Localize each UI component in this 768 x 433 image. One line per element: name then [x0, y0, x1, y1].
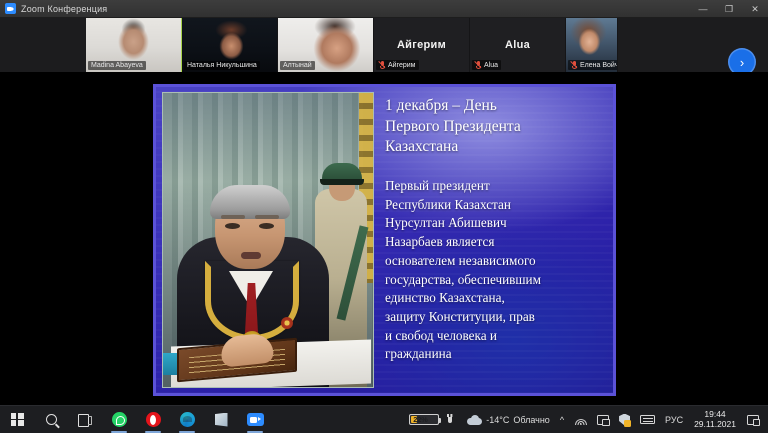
battery-icon: 22%	[409, 414, 439, 425]
whatsapp-icon	[112, 412, 127, 427]
participant-thumbnail-strip[interactable]: Madina Abayeva Наталья Никульшина Алтына…	[0, 18, 768, 72]
chevron-right-icon: ›	[740, 56, 744, 69]
notification-center-icon	[747, 415, 759, 425]
mic-muted-icon	[475, 61, 481, 69]
search-icon	[46, 414, 57, 425]
weather-temperature: -14°C	[486, 415, 509, 425]
wifi-button[interactable]	[569, 406, 592, 433]
chevron-up-icon: ^	[560, 415, 564, 425]
participant-thumbnail[interactable]: Alua Alua	[470, 18, 566, 72]
gallery-next-page-button[interactable]: ›	[728, 48, 756, 72]
participant-name: Madina Abayeva	[91, 62, 143, 69]
system-tray: 22% -14°C Облачно ^	[404, 406, 768, 433]
maximize-button[interactable]: ❐	[716, 0, 742, 18]
participant-thumbnail[interactable]: Алтынай	[278, 18, 374, 72]
display-icon	[597, 415, 609, 425]
participant-thumbnail[interactable]: Елена Войчук	[566, 18, 618, 72]
edge-button[interactable]	[170, 406, 204, 433]
strip-left-padding	[0, 18, 86, 72]
wifi-icon	[574, 415, 587, 425]
search-button[interactable]	[34, 406, 68, 433]
participant-name: Alua	[484, 62, 498, 69]
president-brow-right	[255, 215, 279, 219]
participant-thumbnail[interactable]: Madina Abayeva	[86, 18, 182, 72]
opera-icon	[146, 412, 161, 427]
president-eye-left	[225, 223, 240, 229]
start-button[interactable]	[0, 406, 34, 433]
cloud-icon	[467, 415, 482, 425]
task-view-button[interactable]	[68, 406, 102, 433]
president-eye-right	[259, 223, 274, 229]
keyboard-icon	[640, 415, 655, 424]
battery-status[interactable]: 22%	[404, 406, 462, 433]
president-mouth	[241, 252, 261, 259]
mic-muted-icon	[571, 61, 577, 69]
participant-thumbnail[interactable]: Наталья Никульшина	[182, 18, 278, 72]
whatsapp-button[interactable]	[102, 406, 136, 433]
mic-muted-icon	[379, 61, 385, 69]
language-indicator[interactable]: РУС	[660, 406, 688, 433]
participant-thumbnail[interactable]: Айгерим Айгерим	[374, 18, 470, 72]
security-center-button[interactable]	[614, 406, 635, 433]
president-lapel-badge	[281, 317, 293, 329]
window-title: Zoom Конференция	[21, 4, 107, 14]
slide-photo	[162, 92, 374, 388]
windows-logo-icon	[11, 413, 24, 426]
participant-name: Айгерим	[388, 62, 416, 69]
edge-icon	[180, 412, 195, 427]
zoom-button[interactable]	[238, 406, 272, 433]
minimize-button[interactable]: —	[690, 0, 716, 18]
display-settings-button[interactable]	[592, 406, 614, 433]
participant-name-badge: Алтынай	[280, 61, 315, 70]
security-shield-icon	[619, 414, 630, 426]
honor-guard-cap	[322, 163, 362, 181]
microsoft-store-icon	[215, 413, 228, 427]
slide-body-text: Первый президент Республики Казахстан Ну…	[385, 177, 607, 364]
touch-keyboard-button[interactable]	[635, 406, 660, 433]
participant-name-badge: Madina Abayeva	[88, 61, 146, 70]
battery-percent: 22%	[411, 415, 429, 424]
zoom-icon	[247, 413, 264, 426]
window-controls: — ❐ ✕	[690, 0, 768, 18]
participant-name: Елена Войчук	[580, 62, 618, 69]
task-view-icon	[78, 414, 92, 425]
power-plug-icon	[446, 414, 453, 425]
participant-name: Наталья Никульшина	[187, 62, 257, 69]
store-button[interactable]	[204, 406, 238, 433]
slide-title: 1 декабря – День Первого Президента Каза…	[385, 96, 607, 158]
notification-center-button[interactable]	[742, 406, 768, 433]
clock[interactable]: 19:44 29.11.2021	[688, 406, 742, 433]
president-brow-left	[221, 215, 245, 219]
participant-name-badge: Наталья Никульшина	[184, 61, 260, 70]
clock-date: 29.11.2021	[694, 420, 736, 430]
participant-name: Алтынай	[283, 62, 312, 69]
window-titlebar: Zoom Конференция — ❐ ✕	[0, 0, 768, 18]
windows-taskbar: 22% -14°C Облачно ^	[0, 405, 768, 433]
participant-name-badge: Елена Войчук	[568, 60, 618, 70]
participant-name-badge: Alua	[472, 60, 501, 70]
opera-button[interactable]	[136, 406, 170, 433]
weather-condition: Облачно	[513, 415, 549, 425]
slide-text-column: 1 декабря – День Первого Президента Каза…	[385, 96, 607, 386]
president-hair	[210, 185, 290, 219]
participant-name-badge: Айгерим	[376, 60, 419, 70]
president-chain-of-office	[205, 261, 299, 341]
close-button[interactable]: ✕	[742, 0, 768, 18]
tray-overflow-button[interactable]: ^	[555, 406, 569, 433]
shared-screen-stage: 1 декабря – День Первого Президента Каза…	[0, 72, 768, 405]
zoom-meeting-screen: Zoom Конференция — ❐ ✕ Madina Abayeva На…	[0, 0, 768, 433]
presentation-slide: 1 декабря – День Первого Президента Каза…	[153, 84, 616, 396]
zoom-video-icon	[5, 3, 16, 14]
weather-widget[interactable]: -14°C Облачно	[462, 406, 555, 433]
